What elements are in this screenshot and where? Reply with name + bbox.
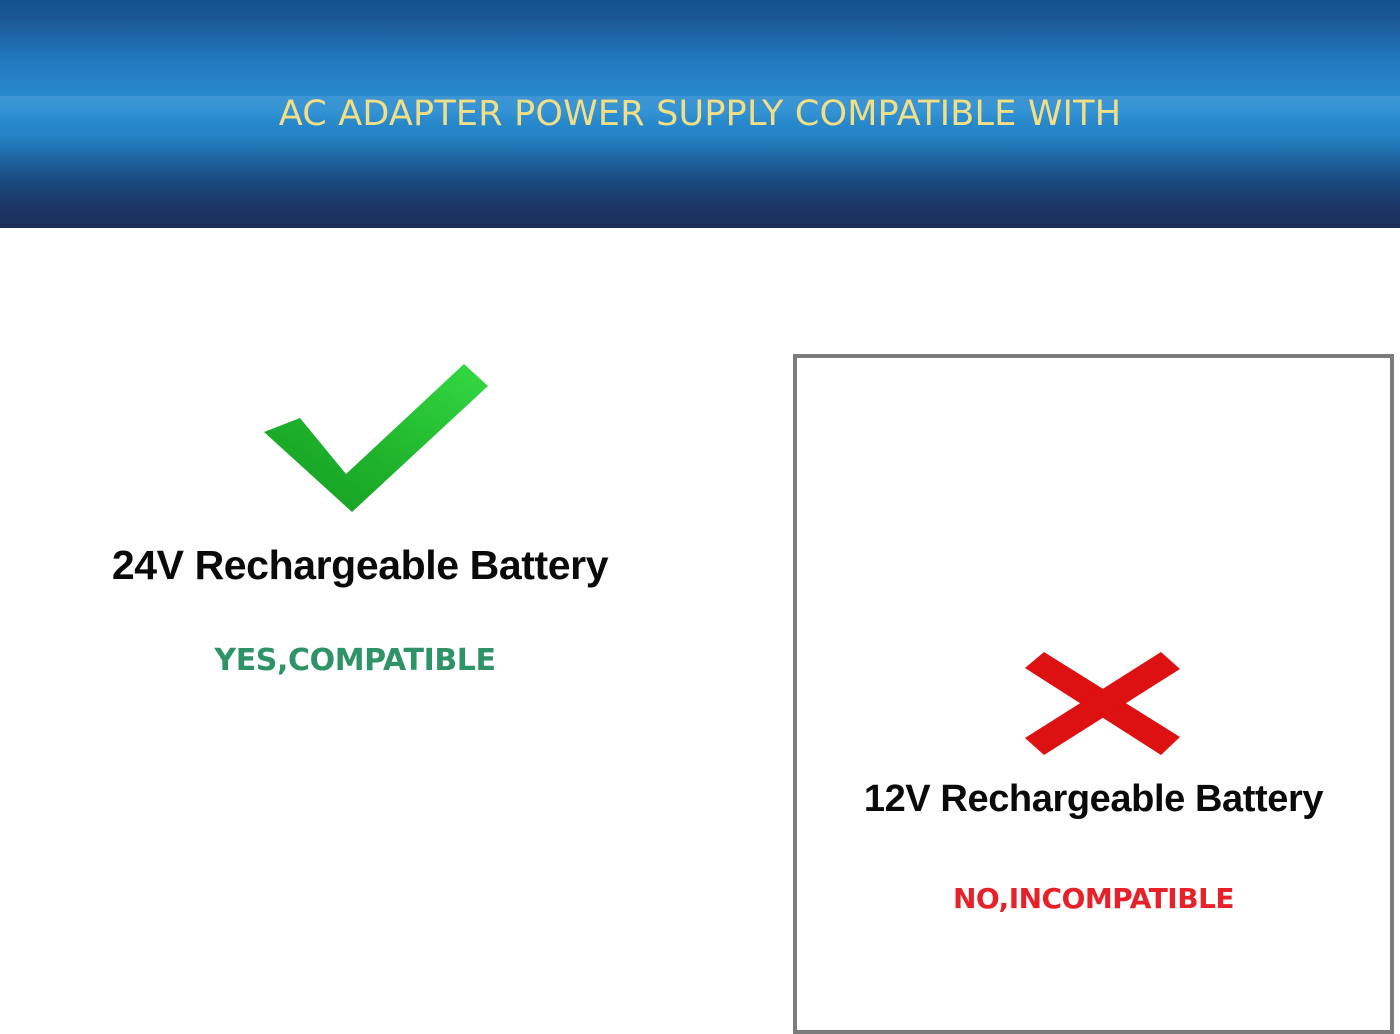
page-title: AC ADAPTER POWER SUPPLY COMPATIBLE WITH <box>0 89 1400 140</box>
incompatible-panel: 12V Rechargeable Battery NO,INCOMPATIBLE <box>793 354 1394 1034</box>
compatible-panel: 24V Rechargeable Battery YES,COMPATIBLE <box>0 228 760 810</box>
incompatible-product-label: 12V Rechargeable Battery <box>797 778 1390 821</box>
header-banner: AC ADAPTER POWER SUPPLY COMPATIBLE WITH <box>0 0 1400 228</box>
green-check-icon <box>248 364 498 512</box>
comparison-content: 24V Rechargeable Battery YES,COMPATIBLE … <box>0 228 1400 810</box>
incompatible-status-text: NO,INCOMPATIBLE <box>797 882 1390 915</box>
compatible-product-label: 24V Rechargeable Battery <box>0 542 720 589</box>
red-cross-icon <box>1025 652 1180 755</box>
compatible-status-text: YES,COMPATIBLE <box>0 643 710 678</box>
